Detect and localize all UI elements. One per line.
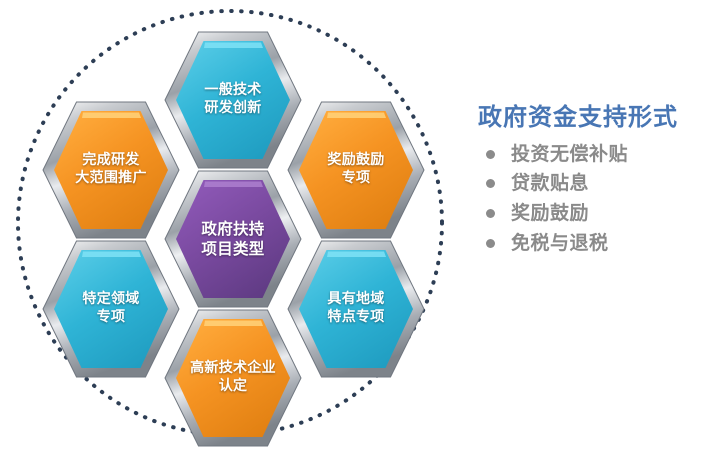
hexagon-cluster: 一般技术 研发创新 [0,0,470,446]
bullet-icon [486,239,495,248]
list-item[interactable]: 免税与退税 [478,233,718,254]
hex-node-bottom[interactable]: 高新技术企业 认定 [164,309,302,447]
support-forms-list: 投资无偿补贴 贷款贴息 奖励鼓励 免税与退税 [478,144,718,255]
bullet-icon [486,179,495,188]
hex-highlight [327,252,386,258]
list-item-label: 投资无偿补贴 [511,144,628,165]
hex-node-top-left[interactable]: 完成研发 大范围推广 [42,101,180,239]
hex-node-bottom-left[interactable]: 特定领域 专项 [42,240,180,378]
bullet-icon [486,150,495,159]
bullet-icon [486,209,495,218]
hex-highlight [327,113,386,119]
hex-node-bottom-right[interactable]: 具有地域 特点专项 [287,240,425,378]
hex-highlight [204,182,263,188]
list-item-label: 免税与退税 [511,233,609,254]
hex-node-top-right[interactable]: 奖励鼓励 专项 [287,101,425,239]
support-forms-panel: 政府资金支持形式 投资无偿补贴 贷款贴息 奖励鼓励 免税与退税 [478,104,718,263]
list-item[interactable]: 贷款贴息 [478,173,718,194]
list-item-label: 奖励鼓励 [511,203,589,224]
infographic-canvas: 一般技术 研发创新 [0,0,722,446]
hex-node-top[interactable]: 一般技术 研发创新 [164,31,302,169]
hex-highlight [204,321,263,327]
hex-node-center[interactable]: 政府扶持 项目类型 [164,170,302,308]
hex-highlight [82,113,141,119]
list-item-label: 贷款贴息 [511,173,589,194]
panel-title: 政府资金支持形式 [478,104,718,132]
list-item[interactable]: 奖励鼓励 [478,203,718,224]
list-item[interactable]: 投资无偿补贴 [478,144,718,165]
hex-highlight [204,43,263,49]
hex-highlight [82,252,141,258]
